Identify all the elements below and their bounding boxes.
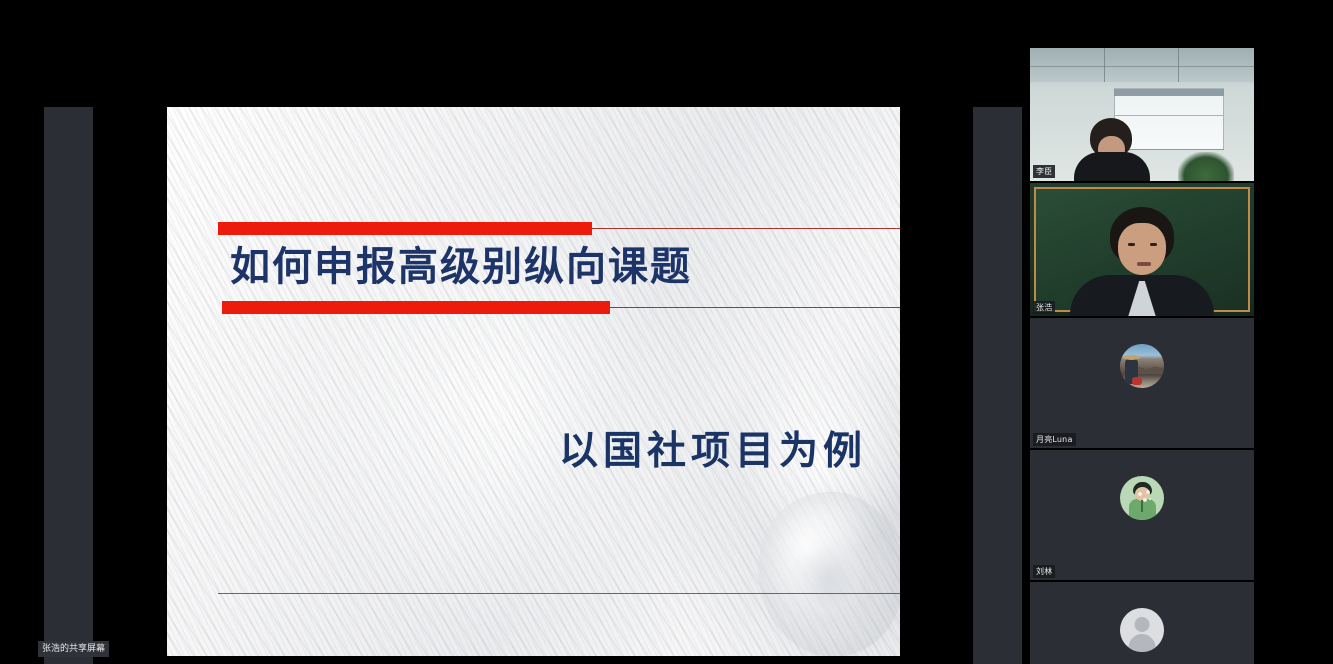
slide-title-top-bar: [218, 222, 900, 236]
shared-screen-label: 张浩的共享屏幕: [38, 641, 109, 657]
meeting-window: 如何申报高级别纵向课题 以国社项目为例 张浩的共享屏幕: [0, 0, 1333, 664]
participant-tile-1[interactable]: 李臣: [1030, 48, 1254, 181]
avatar-flowers: [1137, 490, 1152, 507]
presentation-slide[interactable]: 如何申报高级别纵向课题 以国社项目为例: [167, 107, 900, 656]
participant-name-2: 张浩: [1033, 301, 1055, 314]
person-eye-left: [1128, 243, 1135, 246]
default-person-avatar: [1120, 608, 1164, 652]
green-illustration-avatar: [1120, 476, 1164, 520]
person-body: [1074, 152, 1150, 181]
person-eye-right: [1150, 243, 1157, 246]
person-face: [1118, 223, 1166, 275]
participant-name-1: 李臣: [1033, 165, 1055, 178]
shared-screen-area[interactable]: 如何申报高级别纵向课题 以国社项目为例 张浩的共享屏幕: [0, 0, 1022, 664]
slide-title-top-accent: [218, 222, 592, 235]
participant-name-3: 月亮Luna: [1033, 433, 1076, 446]
avatar-container-3: [1030, 318, 1254, 448]
avatar-hat: [1123, 355, 1140, 360]
person-mouth: [1137, 262, 1151, 266]
participant-video-1: [1030, 48, 1254, 181]
participant-name-4: 刘林: [1033, 565, 1055, 578]
participant-filmstrip[interactable]: 李臣 张浩: [1029, 0, 1333, 664]
silhouette-body: [1129, 634, 1156, 652]
landscape-photo-avatar: [1120, 344, 1164, 388]
slide-title-bottom-bar: [218, 301, 900, 315]
shared-screen-left-letterbox: [44, 107, 93, 664]
avatar-red-accent: [1132, 377, 1142, 385]
office-ceiling-line: [1030, 66, 1254, 67]
slide-content: 如何申报高级别纵向课题 以国社项目为例: [167, 107, 900, 656]
shared-screen-right-letterbox: [973, 107, 1022, 664]
slide-title: 如何申报高级别纵向课题: [218, 236, 900, 301]
slide-title-block: 如何申报高级别纵向课题: [218, 222, 900, 315]
participant-tile-2[interactable]: 张浩: [1030, 183, 1254, 316]
avatar-container-4: [1030, 450, 1254, 580]
participant-video-2: [1030, 183, 1254, 316]
slide-bottom-rule: [218, 593, 900, 594]
canyon-shape: [1134, 364, 1164, 374]
silhouette-head: [1135, 617, 1150, 632]
participant-tile-3[interactable]: 月亮Luna: [1030, 318, 1254, 448]
slide-subtitle: 以国社项目为例: [559, 420, 867, 476]
office-plant: [1178, 152, 1234, 181]
slide-title-bottom-accent: [222, 301, 610, 314]
participant-tile-4[interactable]: 刘林: [1030, 450, 1254, 580]
office-ceiling: [1030, 48, 1254, 82]
avatar-container-5: [1030, 582, 1254, 664]
participant-tile-5[interactable]: [1030, 582, 1254, 664]
